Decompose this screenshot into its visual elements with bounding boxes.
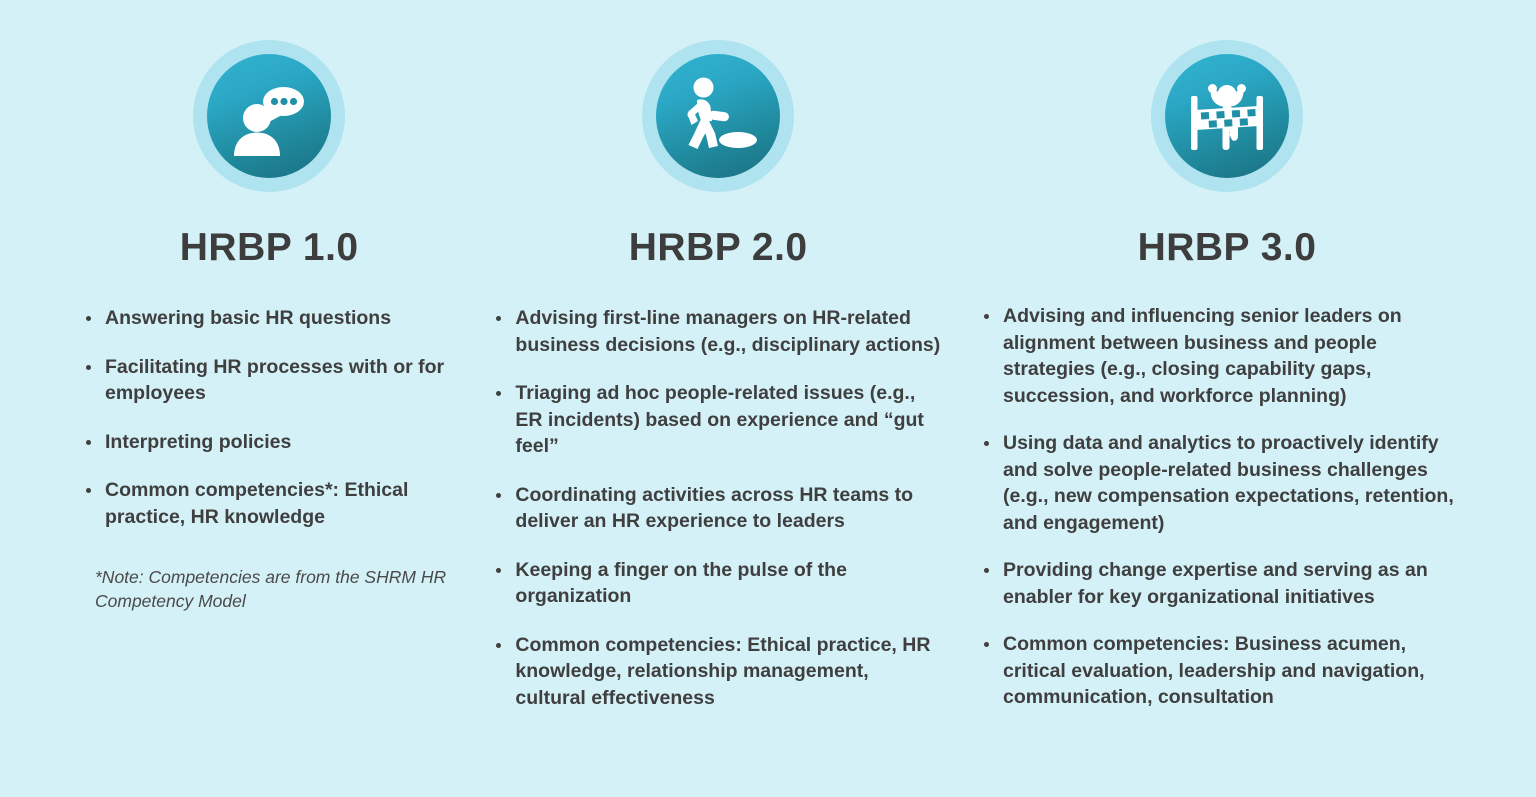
badge-hrbp-2 — [642, 40, 794, 192]
list-item: Triaging ad hoc people-related issues (e… — [494, 380, 942, 460]
page-title-hrbp-2: HRBP 2.0 — [629, 228, 808, 267]
bullet-list-hrbp-1: Answering basic HR questions Facilitatin… — [84, 305, 454, 552]
bullet-list-hrbp-3: Advising and influencing senior leaders … — [982, 303, 1472, 732]
list-item: Providing change expertise and serving a… — [982, 557, 1472, 610]
bullet-list-hrbp-2: Advising first-line managers on HR-relat… — [494, 305, 942, 733]
walking-person-pothole-icon — [676, 74, 760, 158]
list-item: Advising and influencing senior leaders … — [982, 303, 1472, 409]
footnote-hrbp-1: *Note: Competencies are from the SHRM HR… — [95, 566, 465, 614]
badge-disc — [207, 54, 331, 178]
list-item: Answering basic HR questions — [84, 305, 454, 332]
columns-container: HRBP 1.0 Answering basic HR questions Fa… — [0, 0, 1536, 797]
column-hrbp-1: HRBP 1.0 Answering basic HR questions Fa… — [24, 40, 480, 614]
column-hrbp-3: HRBP 3.0 Advising and influencing senior… — [962, 40, 1512, 732]
person-speech-bubble-icon — [227, 74, 311, 158]
runner-finish-line-icon — [1185, 74, 1269, 158]
column-hrbp-2: HRBP 2.0 Advising first-line managers on… — [480, 40, 962, 733]
infographic-board: HRBP 1.0 Answering basic HR questions Fa… — [0, 0, 1536, 797]
list-item: Advising first-line managers on HR-relat… — [494, 305, 942, 358]
badge-disc — [656, 54, 780, 178]
list-item: Coordinating activities across HR teams … — [494, 482, 942, 535]
list-item: Common competencies*: Ethical practice, … — [84, 477, 454, 530]
list-item: Interpreting policies — [84, 429, 454, 456]
list-item: Facilitating HR processes with or for em… — [84, 354, 454, 407]
badge-hrbp-3 — [1151, 40, 1303, 192]
page-title-hrbp-3: HRBP 3.0 — [1138, 228, 1317, 267]
list-item: Using data and analytics to proactively … — [982, 430, 1472, 536]
badge-hrbp-1 — [193, 40, 345, 192]
list-item: Common competencies: Ethical practice, H… — [494, 632, 942, 712]
list-item: Common competencies: Business acumen, cr… — [982, 631, 1472, 711]
badge-disc — [1165, 54, 1289, 178]
page-title-hrbp-1: HRBP 1.0 — [180, 228, 359, 267]
list-item: Keeping a finger on the pulse of the org… — [494, 557, 942, 610]
